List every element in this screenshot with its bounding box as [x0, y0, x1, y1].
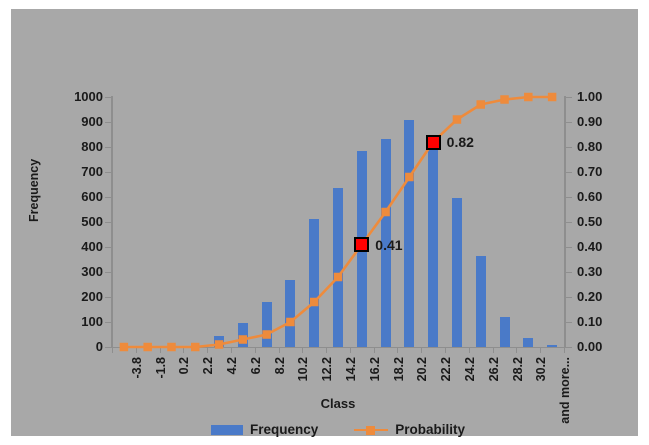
- bar[interactable]: [500, 317, 510, 347]
- y-axis-secondary-tick: [566, 347, 572, 348]
- probability-marker[interactable]: [453, 115, 462, 124]
- chart-root: 01002003004005006007008009001000 0.000.1…: [0, 0, 649, 445]
- y-axis-primary-label: 600: [57, 189, 103, 204]
- x-axis-tick: [374, 347, 375, 353]
- x-axis-tick: [445, 347, 446, 353]
- y-axis-primary-label: 500: [57, 214, 103, 229]
- y-axis-title: Frequency: [27, 159, 41, 222]
- y-axis-primary-tick: [105, 122, 111, 123]
- probability-marker[interactable]: [476, 100, 485, 109]
- y-axis-primary-tick: [105, 222, 111, 223]
- x-axis-label: -3.8: [130, 357, 144, 379]
- y-axis-secondary-tick: [566, 297, 572, 298]
- x-axis-tick: [397, 347, 398, 353]
- x-axis-title: Class: [112, 396, 564, 411]
- y-axis-primary-tick: [105, 197, 111, 198]
- y-axis-secondary-tick: [566, 322, 572, 323]
- x-axis-label: 6.2: [249, 357, 263, 374]
- y-axis-secondary-label: 0.60: [577, 189, 602, 204]
- x-axis-tick: [302, 347, 303, 353]
- x-axis-tick: [112, 347, 113, 353]
- x-axis-tick: [183, 347, 184, 353]
- y-axis-primary-label: 800: [57, 139, 103, 154]
- x-axis-label: 28.2: [511, 357, 525, 381]
- y-axis-secondary-tick: [566, 197, 572, 198]
- x-axis-label: 22.2: [439, 357, 453, 381]
- x-axis-tick: [279, 347, 280, 353]
- y-axis-primary-label: 400: [57, 239, 103, 254]
- callout-value-label: 0.41: [375, 237, 402, 253]
- y-axis-primary-label: 200: [57, 289, 103, 304]
- y-axis-secondary-tick: [566, 122, 572, 123]
- chart-legend: Frequency Probability: [112, 422, 564, 437]
- y-axis-secondary-tick: [566, 172, 572, 173]
- y-axis-primary-tick: [105, 247, 111, 248]
- y-axis-primary-label: 700: [57, 164, 103, 179]
- y-axis-secondary-label: 0.70: [577, 164, 602, 179]
- legend-label-probability: Probability: [395, 422, 465, 437]
- x-axis-label: 26.2: [487, 357, 501, 381]
- y-axis-secondary-label: 0.40: [577, 239, 602, 254]
- bar[interactable]: [428, 143, 438, 347]
- y-axis-primary-label: 0: [57, 339, 103, 354]
- y-axis-secondary-label: 0.20: [577, 289, 602, 304]
- x-axis-label: 20.2: [415, 357, 429, 381]
- x-axis-label: 16.2: [368, 357, 382, 381]
- y-axis-secondary-label: 0.00: [577, 339, 602, 354]
- x-axis-label: 8.2: [273, 357, 287, 374]
- x-axis-tick: [231, 347, 232, 353]
- probability-callout[interactable]: 0.41: [354, 237, 402, 253]
- bar[interactable]: [214, 336, 224, 347]
- y-axis-primary-tick: [105, 322, 111, 323]
- x-axis-tick: [469, 347, 470, 353]
- y-axis-primary-label: 300: [57, 264, 103, 279]
- x-axis-tick: [421, 347, 422, 353]
- y-axis-primary-tick: [105, 97, 111, 98]
- x-axis-tick: [160, 347, 161, 353]
- x-axis-tick: [493, 347, 494, 353]
- y-axis-primary-tick: [105, 297, 111, 298]
- y-axis-secondary-tick: [566, 272, 572, 273]
- y-axis-secondary-label: 1.00: [577, 89, 602, 104]
- x-axis-label: 2.2: [201, 357, 215, 374]
- legend-line-swatch-icon: [354, 424, 388, 436]
- x-axis-tick: [540, 347, 541, 353]
- y-axis-secondary-tick: [566, 247, 572, 248]
- y-axis-secondary-tick: [566, 97, 572, 98]
- x-axis-label: 18.2: [392, 357, 406, 381]
- probability-callout[interactable]: 0.82: [426, 134, 474, 150]
- x-axis-tick: [326, 347, 327, 353]
- y-axis-primary-tick: [105, 347, 111, 348]
- y-axis-secondary-label: 0.30: [577, 264, 602, 279]
- x-axis-tick: [564, 347, 565, 353]
- x-axis-label: 24.2: [463, 357, 477, 381]
- y-axis-secondary-label: 0.50: [577, 214, 602, 229]
- callout-marker-icon: [354, 237, 369, 252]
- y-axis-secondary-label: 0.90: [577, 114, 602, 129]
- x-axis-label: 14.2: [344, 357, 358, 381]
- x-axis-label: -1.8: [154, 357, 168, 379]
- x-axis-label: 30.2: [534, 357, 548, 381]
- probability-marker[interactable]: [548, 93, 557, 102]
- bar[interactable]: [333, 188, 343, 347]
- legend-item-frequency[interactable]: Frequency: [211, 422, 318, 437]
- bar[interactable]: [404, 120, 414, 348]
- x-axis-tick: [136, 347, 137, 353]
- x-axis-tick: [350, 347, 351, 353]
- y-axis-primary-tick: [105, 272, 111, 273]
- probability-marker[interactable]: [524, 93, 533, 102]
- bar[interactable]: [262, 302, 272, 347]
- x-axis-tick: [516, 347, 517, 353]
- bar[interactable]: [452, 198, 462, 348]
- y-axis-secondary-label: 0.10: [577, 314, 602, 329]
- x-axis-label: 12.2: [320, 357, 334, 381]
- y-axis-primary-label: 1000: [57, 89, 103, 104]
- y-axis-primary-label: 100: [57, 314, 103, 329]
- y-axis-primary-label: 900: [57, 114, 103, 129]
- y-axis-primary-tick: [105, 147, 111, 148]
- bar[interactable]: [476, 256, 486, 347]
- callout-marker-icon: [426, 135, 441, 150]
- callout-value-label: 0.82: [447, 134, 474, 150]
- x-axis-tick: [255, 347, 256, 353]
- x-axis-line: [111, 347, 566, 348]
- bar[interactable]: [523, 338, 533, 347]
- y-axis-primary-tick: [105, 172, 111, 173]
- y-axis-secondary-label: 0.80: [577, 139, 602, 154]
- bar[interactable]: [547, 345, 557, 347]
- x-axis-tick: [207, 347, 208, 353]
- probability-marker[interactable]: [500, 95, 509, 104]
- x-axis-label: 10.2: [296, 357, 310, 381]
- plot-area: 0.410.82: [112, 97, 564, 347]
- x-axis-label: 0.2: [177, 357, 191, 374]
- legend-bar-swatch-icon: [211, 425, 243, 435]
- y-axis-secondary-tick: [566, 147, 572, 148]
- bar[interactable]: [285, 280, 295, 347]
- legend-label-frequency: Frequency: [250, 422, 318, 437]
- chart-plot-panel: 01002003004005006007008009001000 0.000.1…: [11, 9, 638, 436]
- bar[interactable]: [309, 219, 319, 347]
- bar[interactable]: [238, 323, 248, 347]
- x-axis-label: 4.2: [225, 357, 239, 374]
- x-axis-label: and more...: [558, 357, 572, 424]
- legend-item-probability[interactable]: Probability: [354, 422, 465, 437]
- y-axis-secondary-tick: [566, 222, 572, 223]
